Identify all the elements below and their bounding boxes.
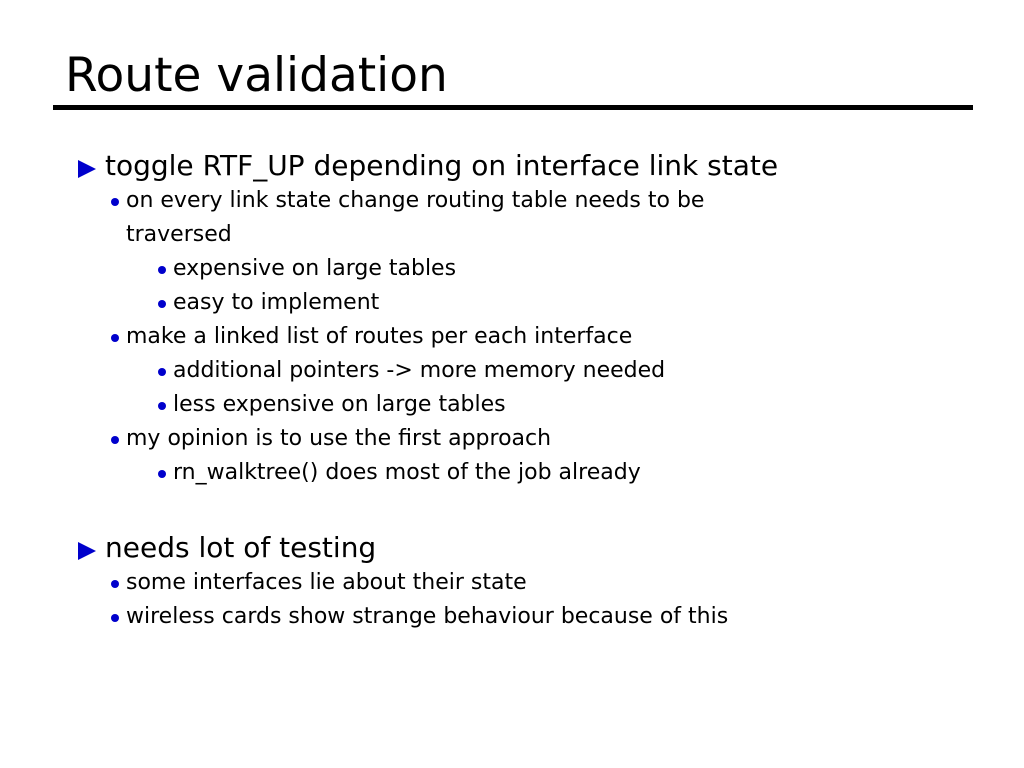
bullet-text: wireless cards show strange behaviour be… [126, 604, 728, 629]
bullet-text: rn_walktree() does most of the job alrea… [173, 460, 641, 485]
dot-bullet-icon [111, 198, 119, 206]
bullet-text: needs lot of testing [105, 531, 376, 564]
dot-bullet-icon [158, 470, 166, 478]
bullet-text: toggle RTF_UP depending on interface lin… [105, 149, 778, 182]
bullet-level2: on every link state change routing table… [0, 184, 1024, 218]
bullet-level3: expensive on large tables [0, 252, 1024, 286]
triangle-bullet-icon [78, 160, 96, 178]
bullet-level3: less expensive on large tables [0, 388, 1024, 422]
dot-bullet-icon [111, 436, 119, 444]
page-title: Route validation [53, 50, 973, 102]
bullet-level1: toggle RTF_UP depending on interface lin… [0, 148, 1024, 184]
bullet-level2: make a linked list of routes per each in… [0, 320, 1024, 354]
dot-bullet-icon [158, 368, 166, 376]
bullet-level3: rn_walktree() does most of the job alrea… [0, 456, 1024, 490]
bullet-text: expensive on large tables [173, 256, 456, 281]
bullet-text: make a linked list of routes per each in… [126, 324, 632, 349]
bullet-text: traversed [126, 222, 232, 247]
bullet-level3: additional pointers -> more memory neede… [0, 354, 1024, 388]
triangle-bullet-icon [78, 542, 96, 560]
bullet-level2: my opinion is to use the first approach [0, 422, 1024, 456]
bullet-text: easy to implement [173, 290, 379, 315]
dot-bullet-icon [111, 334, 119, 342]
dot-bullet-icon [158, 266, 166, 274]
bullet-level2-continuation: traversed [0, 218, 1024, 252]
bullet-text: additional pointers -> more memory neede… [173, 358, 665, 383]
section-spacer [0, 490, 1024, 530]
title-divider [53, 105, 973, 110]
bullet-level2: wireless cards show strange behaviour be… [0, 600, 1024, 634]
bullet-level2: some interfaces lie about their state [0, 566, 1024, 600]
dot-bullet-icon [111, 580, 119, 588]
bullet-level1: needs lot of testing [0, 530, 1024, 566]
dot-bullet-icon [158, 402, 166, 410]
slide-title-block: Route validation [53, 50, 973, 110]
bullet-text: some interfaces lie about their state [126, 570, 527, 595]
bullet-text: my opinion is to use the first approach [126, 426, 551, 451]
bullet-text: less expensive on large tables [173, 392, 506, 417]
bullet-level3: easy to implement [0, 286, 1024, 320]
bullet-text: on every link state change routing table… [126, 188, 704, 213]
dot-bullet-icon [111, 614, 119, 622]
dot-bullet-icon [158, 300, 166, 308]
presentation-slide: Route validation toggle RTF_UP depending… [0, 0, 1024, 768]
slide-body: toggle RTF_UP depending on interface lin… [0, 148, 1024, 634]
